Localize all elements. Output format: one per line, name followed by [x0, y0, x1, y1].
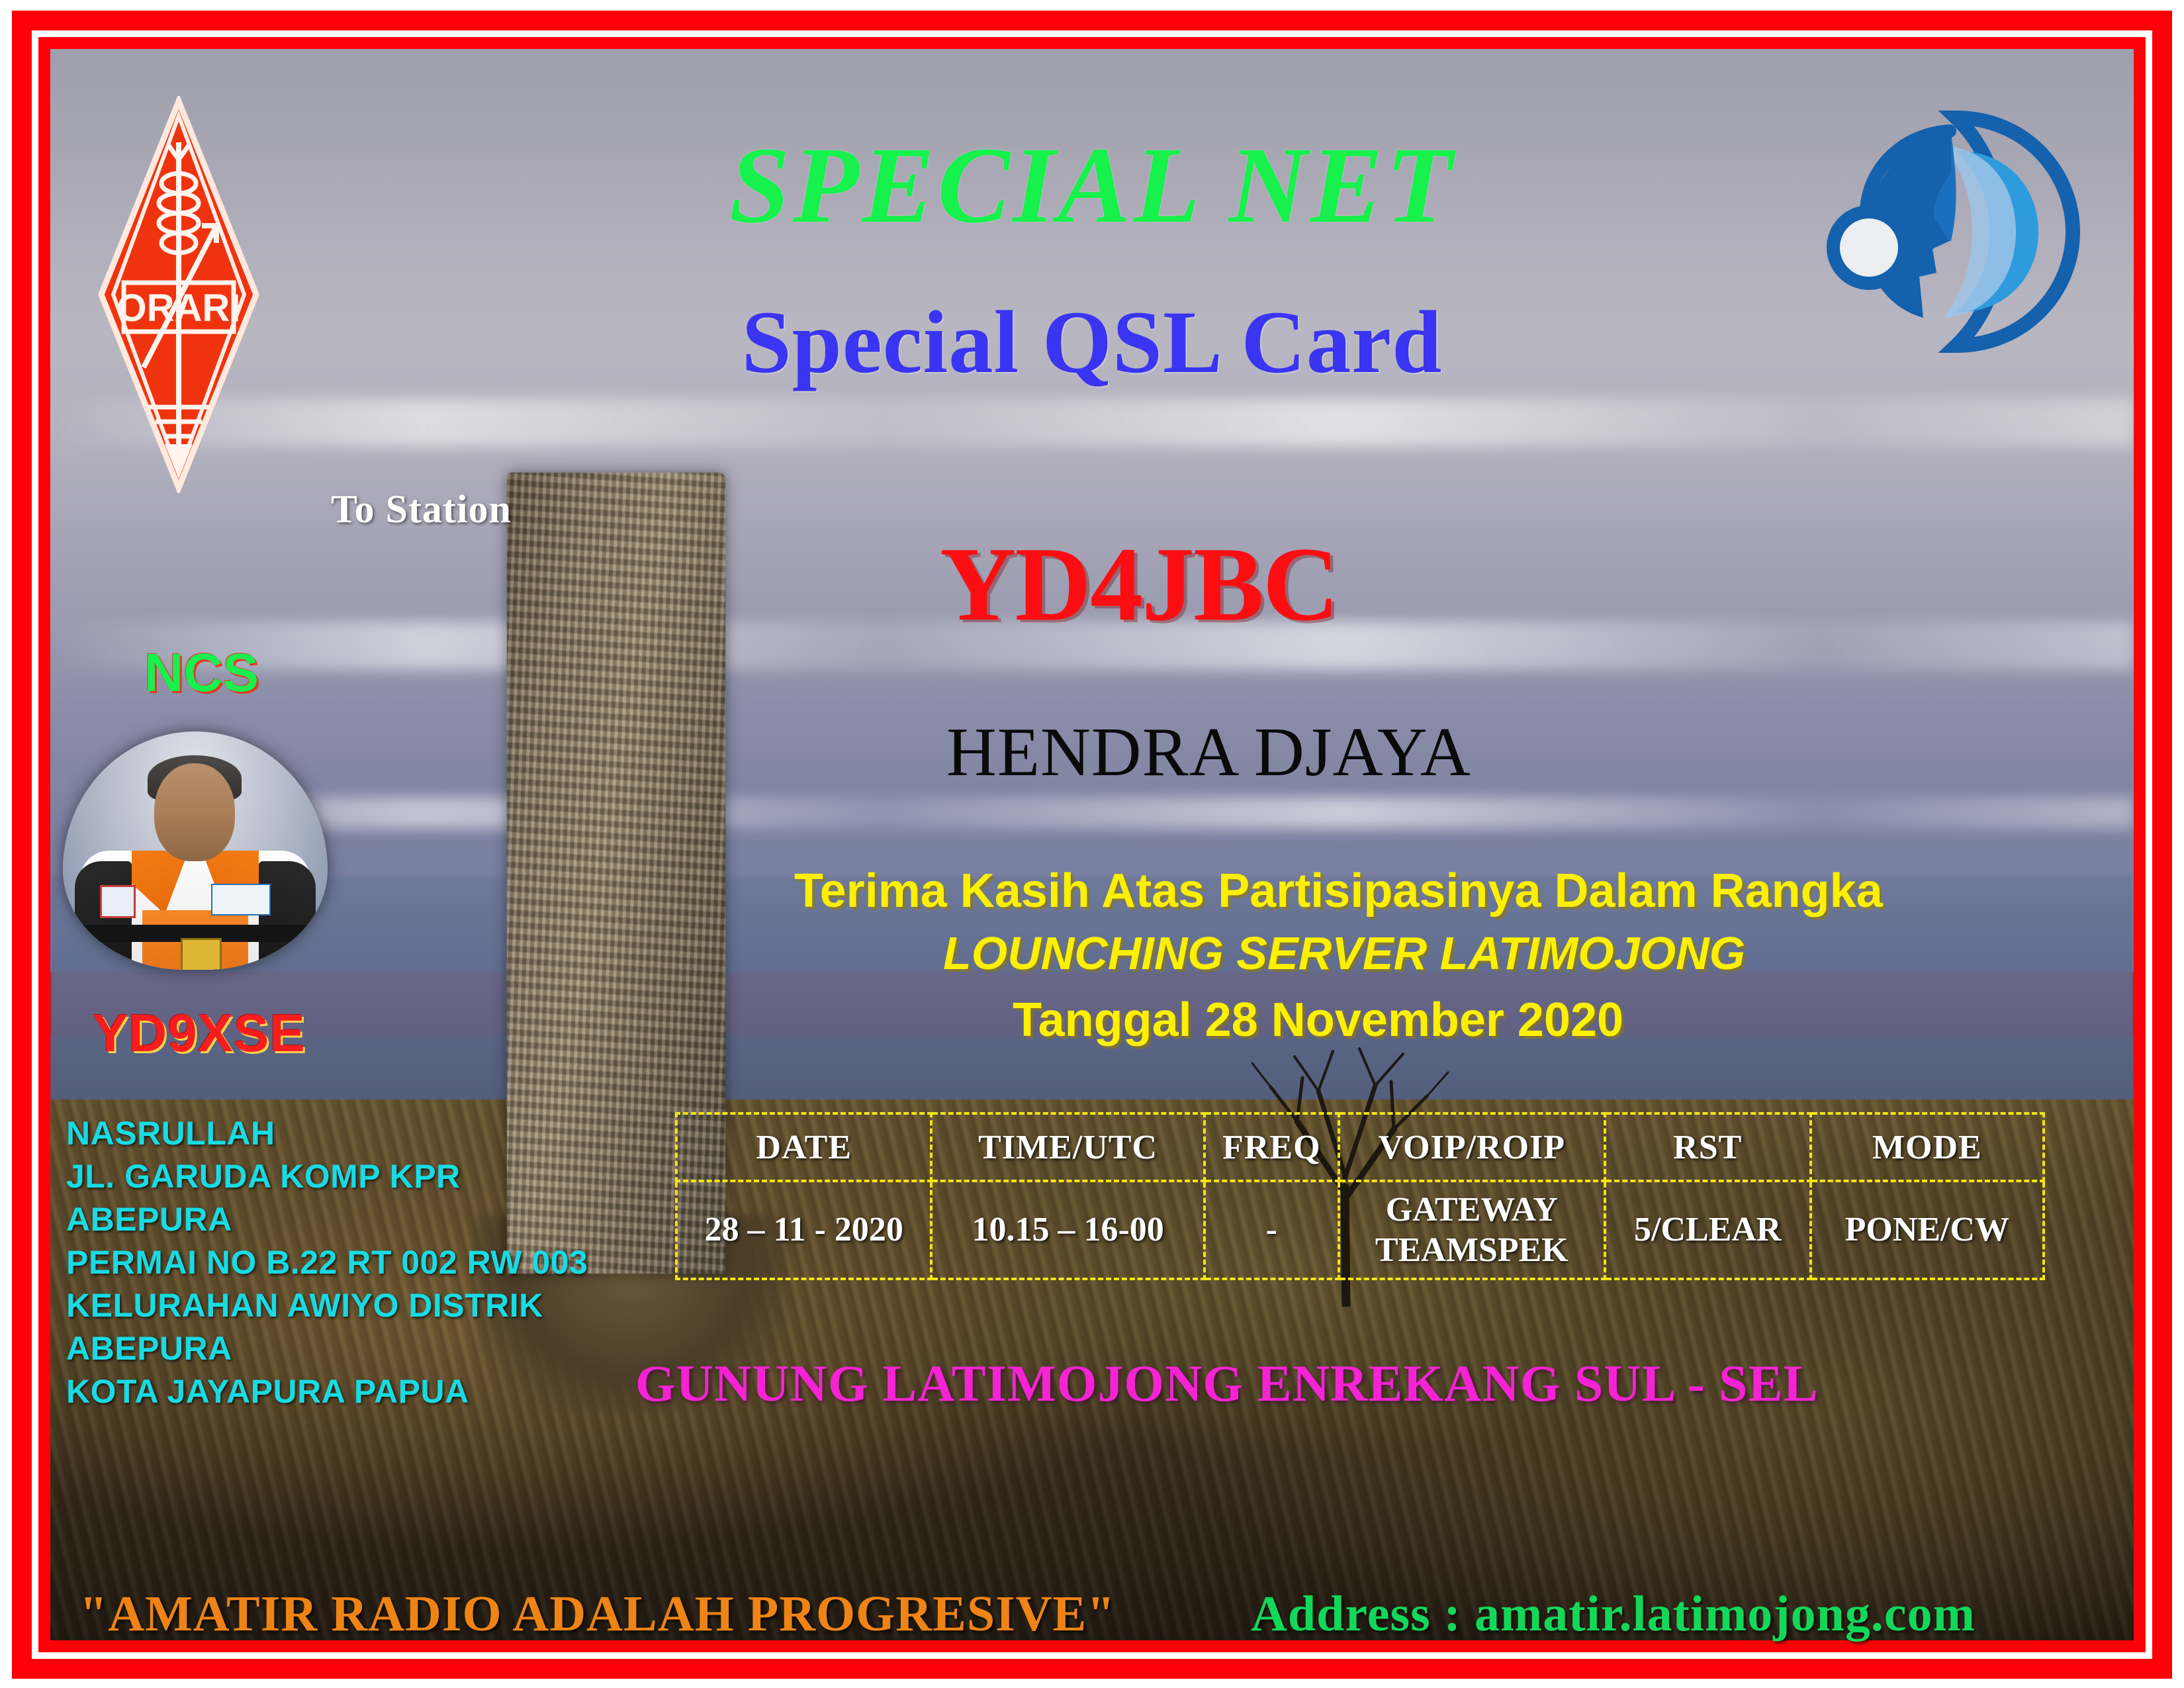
- column-header-voip-roip: VOIP/ROIP: [1339, 1113, 1605, 1181]
- cell-voip-roip-line2: TEAMSPEK: [1341, 1230, 1603, 1270]
- operator-name: HENDRA DJAYA: [946, 712, 1471, 792]
- ncs-callsign: YD9XSE: [93, 1003, 306, 1064]
- cell-time-utc: 10.15 – 16-00: [931, 1181, 1204, 1279]
- address-line: JL. GARUDA KOMP KPR: [66, 1155, 588, 1198]
- cloud-band: [50, 797, 2134, 829]
- uniform-shoulder-right: [259, 861, 316, 970]
- ncs-label: NCS: [144, 642, 259, 704]
- uniform-id-card: [181, 938, 222, 970]
- operator-face: [154, 763, 235, 861]
- cell-voip-roip-line1: GATEWAY: [1341, 1190, 1603, 1230]
- address-line: PERMAI NO B.22 RT 002 RW 003: [66, 1241, 588, 1284]
- column-header-mode: MODE: [1811, 1113, 2044, 1181]
- cell-freq: -: [1205, 1181, 1339, 1279]
- address-line: KELURAHAN AWIYO DISTRIK: [66, 1284, 588, 1327]
- location-line: GUNUNG LATIMOJONG ENREKANG SUL - SEL: [635, 1354, 1819, 1413]
- qso-details-table: DATE TIME/UTC FREQ VOIP/ROIP RST MODE 28…: [675, 1112, 2045, 1280]
- cell-date: 28 – 11 - 2020: [676, 1181, 931, 1279]
- cell-mode: PONE/CW: [1811, 1181, 2044, 1279]
- column-header-freq: FREQ: [1205, 1113, 1339, 1181]
- uniform-badge: [211, 884, 271, 915]
- address-line: ABEPURA: [66, 1198, 588, 1241]
- column-header-rst: RST: [1605, 1113, 1811, 1181]
- thanks-line: Terima Kasih Atas Partisipasinya Dalam R…: [794, 864, 1883, 918]
- column-header-date: DATE: [676, 1113, 931, 1181]
- slogan-text: "AMATIR RADIO ADALAH PROGRESIVE": [79, 1585, 1115, 1643]
- cloud-band: [50, 399, 2134, 447]
- uniform-patch: [100, 885, 136, 918]
- event-line: LOUNCHING SERVER LATIMOJONG: [943, 927, 1745, 980]
- table-row: 28 – 11 - 2020 10.15 – 16-00 - GATEWAY T…: [676, 1181, 2044, 1279]
- table-header-row: DATE TIME/UTC FREQ VOIP/ROIP RST MODE: [676, 1113, 2044, 1181]
- address-block: NASRULLAH JL. GARUDA KOMP KPR ABEPURA PE…: [66, 1112, 588, 1413]
- cell-rst: 5/CLEAR: [1605, 1181, 1811, 1279]
- address-line: ABEPURA: [66, 1327, 588, 1370]
- page-subtitle: Special QSL Card: [0, 291, 2184, 394]
- station-callsign: YD4JBC: [940, 523, 1338, 645]
- address-line: NASRULLAH: [66, 1112, 588, 1155]
- qsl-card: ORARI SPECIAL NET Special QSL Card T: [0, 0, 2184, 1688]
- column-header-time-utc: TIME/UTC: [931, 1113, 1204, 1181]
- event-date-line: Tanggal 28 November 2020: [1013, 993, 1623, 1047]
- page-title: SPECIAL NET: [0, 122, 2184, 248]
- cell-voip-roip: GATEWAY TEAMSPEK: [1339, 1181, 1605, 1279]
- to-station-label: To Station: [331, 487, 512, 532]
- website-address: Address : amatir.latimojong.com: [1251, 1585, 1976, 1643]
- address-line: KOTA JAYAPURA PAPUA: [66, 1370, 588, 1413]
